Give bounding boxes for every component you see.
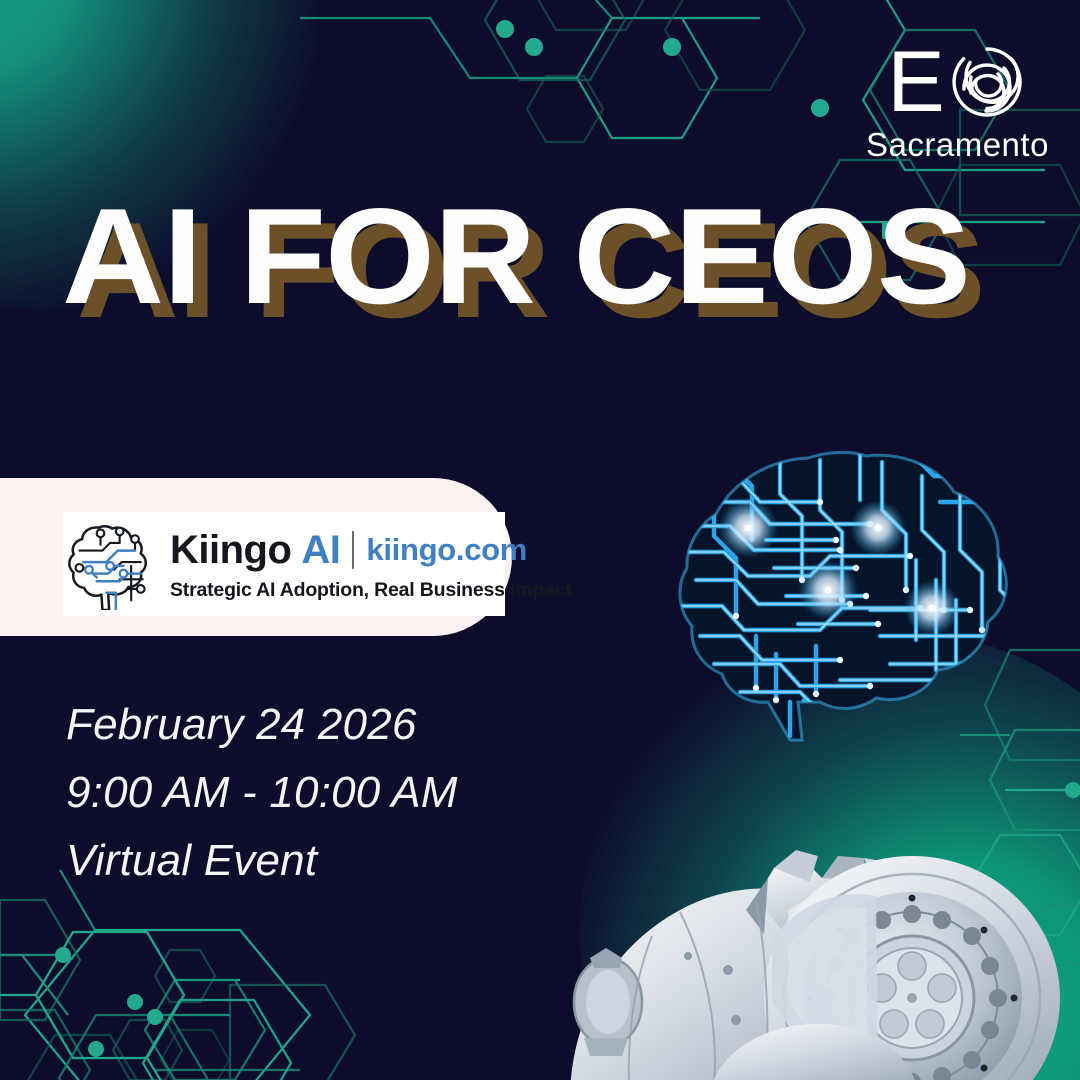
event-time: 9:00 AM - 10:00 AM [66, 764, 686, 822]
eo-chapter-name: Sacramento [866, 126, 1046, 164]
sponsor-website[interactable]: kiingo.com [366, 528, 527, 572]
sponsor-name: Kiingo [170, 528, 291, 572]
sponsor-name-row: Kiingo AI kiingo.com [170, 526, 572, 574]
eo-spiral-icon [949, 44, 1025, 120]
page-title: AI FOR CEOS [62, 186, 998, 326]
eo-letter-e: E [887, 46, 944, 118]
sponsor-divider [352, 531, 354, 569]
brain-circuit-icon [64, 518, 160, 610]
event-format: Virtual Event [66, 832, 686, 890]
sponsor-name-accent: AI [301, 528, 340, 572]
event-details: February 24 2026 9:00 AM - 10:00 AM Virt… [66, 696, 686, 900]
eo-logo-mark: E [866, 46, 1046, 118]
event-poster: E Sacramento AI FOR CEOS [0, 0, 1080, 1080]
eo-logo: E Sacramento [866, 46, 1046, 164]
headline-container: AI FOR CEOS [62, 186, 962, 326]
sponsor-card: Kiingo AI kiingo.com Strategic AI Adopti… [0, 478, 512, 636]
event-date: February 24 2026 [66, 696, 686, 754]
circuit-brain-illustration [670, 440, 1050, 770]
sponsor-logo-block: Kiingo AI kiingo.com Strategic AI Adopti… [62, 512, 505, 616]
sponsor-text-block: Kiingo AI kiingo.com Strategic AI Adopti… [160, 526, 576, 602]
sponsor-tagline: Strategic AI Adoption, Real Business Imp… [170, 578, 572, 602]
